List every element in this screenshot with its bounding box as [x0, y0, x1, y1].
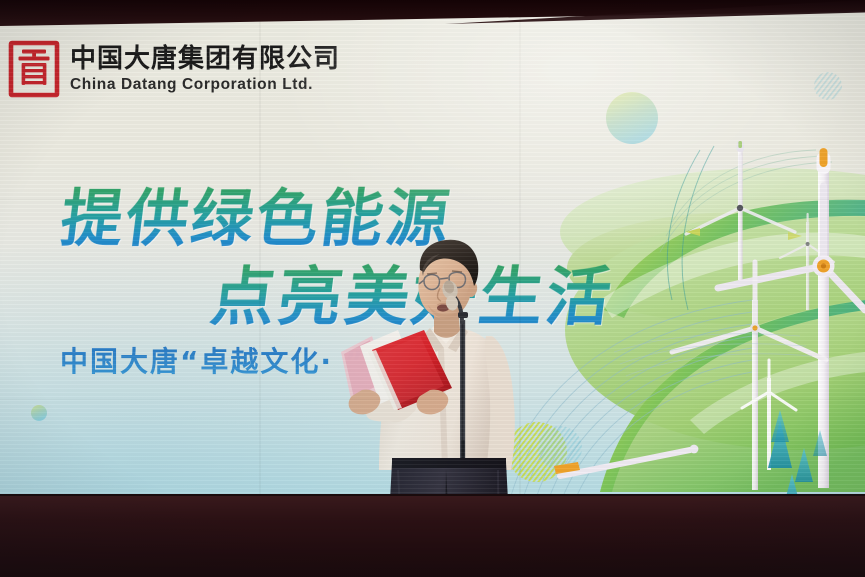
stage-foreground-dark-band	[0, 494, 865, 577]
mic-clip	[458, 312, 468, 318]
speaker-belt	[392, 458, 506, 468]
photo-canvas: 中国大唐集团有限公司 China Datang Corporation Ltd.…	[0, 0, 865, 577]
speaker-figure	[0, 0, 865, 577]
